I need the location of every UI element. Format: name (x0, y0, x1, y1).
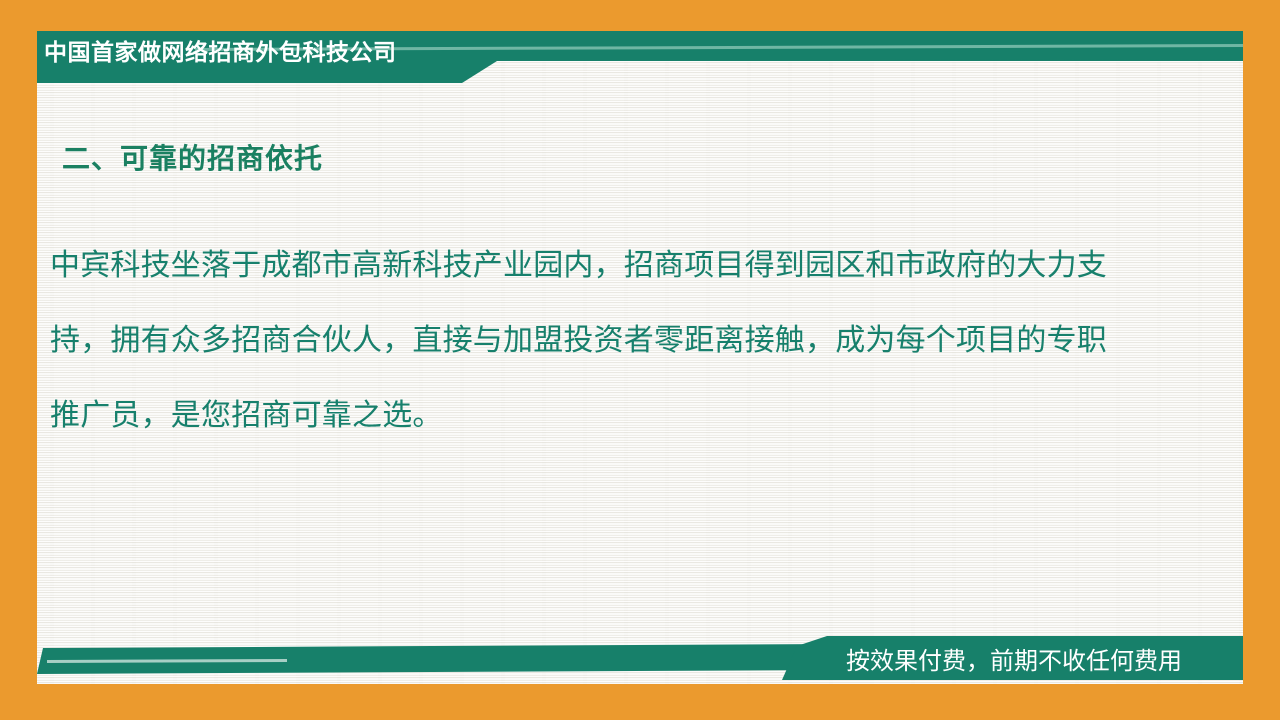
footer-tagline: 按效果付费，前期不收任何费用 (846, 647, 1236, 677)
paragraph-line-1: 中宾科技坐落于成都市高新科技产业园内，招商项目得到园区和市政府的大力支 (50, 228, 1190, 303)
body-paragraph: 中宾科技坐落于成都市高新科技产业园内，招商项目得到园区和市政府的大力支 持，拥有… (50, 228, 1190, 453)
header-title: 中国首家做网络招商外包科技公司 (44, 37, 484, 67)
paragraph-line-3: 推广员，是您招商可靠之选。 (50, 378, 1190, 453)
paragraph-line-2: 持，拥有众多招商合伙人，直接与加盟投资者零距离接触，成为每个项目的专职 (50, 303, 1190, 378)
presentation-slide: 中国首家做网络招商外包科技公司 二、可靠的招商依托 中宾科技坐落于成都市高新科技… (0, 0, 1280, 720)
section-heading: 二、可靠的招商依托 (62, 137, 323, 177)
